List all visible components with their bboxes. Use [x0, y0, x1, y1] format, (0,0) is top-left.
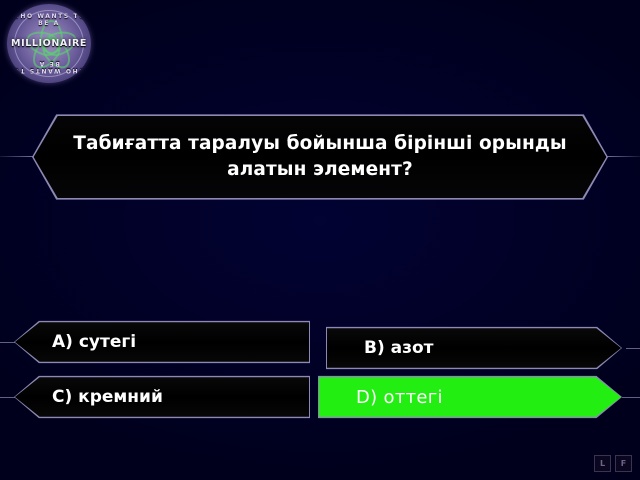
answer-c-label: C) кремний: [14, 375, 310, 419]
answer-option-b[interactable]: B) азот: [326, 326, 622, 370]
lifeline-f-button[interactable]: F: [615, 455, 632, 472]
answer-a-label: A) сутегі: [14, 320, 310, 364]
answer-d-label: D) оттегі: [318, 375, 622, 419]
question-rail-right: [606, 156, 640, 157]
answer-option-d[interactable]: D) оттегі: [318, 375, 622, 419]
logo-disc: WHO WANTS TO BE A WHO WANTS TO BE A MILL…: [7, 4, 91, 83]
logo-wordmark: MILLIONAIRE: [7, 38, 91, 49]
millionaire-logo: WHO WANTS TO BE A WHO WANTS TO BE A MILL…: [4, 3, 98, 83]
answer-option-c[interactable]: C) кремний: [14, 375, 310, 419]
millionaire-question-slide: WHO WANTS TO BE A WHO WANTS TO BE A MILL…: [0, 0, 640, 480]
answer-rail-b: [626, 348, 640, 349]
logo-arc-top-text: WHO WANTS TO BE A: [7, 13, 91, 27]
logo-arc-bottom-text: WHO WANTS TO BE A: [7, 60, 91, 74]
answer-option-a[interactable]: A) сутегі: [14, 320, 310, 364]
answer-rail-d: [622, 397, 640, 398]
answer-b-label: B) азот: [326, 326, 622, 370]
question-banner: Табиғатта таралуы бойынша бірінші орынды…: [32, 113, 608, 201]
question-rail-left: [0, 156, 34, 157]
lifeline-l-button[interactable]: L: [594, 455, 611, 472]
bottom-button-group: L F: [594, 455, 632, 472]
question-text: Табиғатта таралуы бойынша бірінші орынды…: [32, 113, 608, 201]
